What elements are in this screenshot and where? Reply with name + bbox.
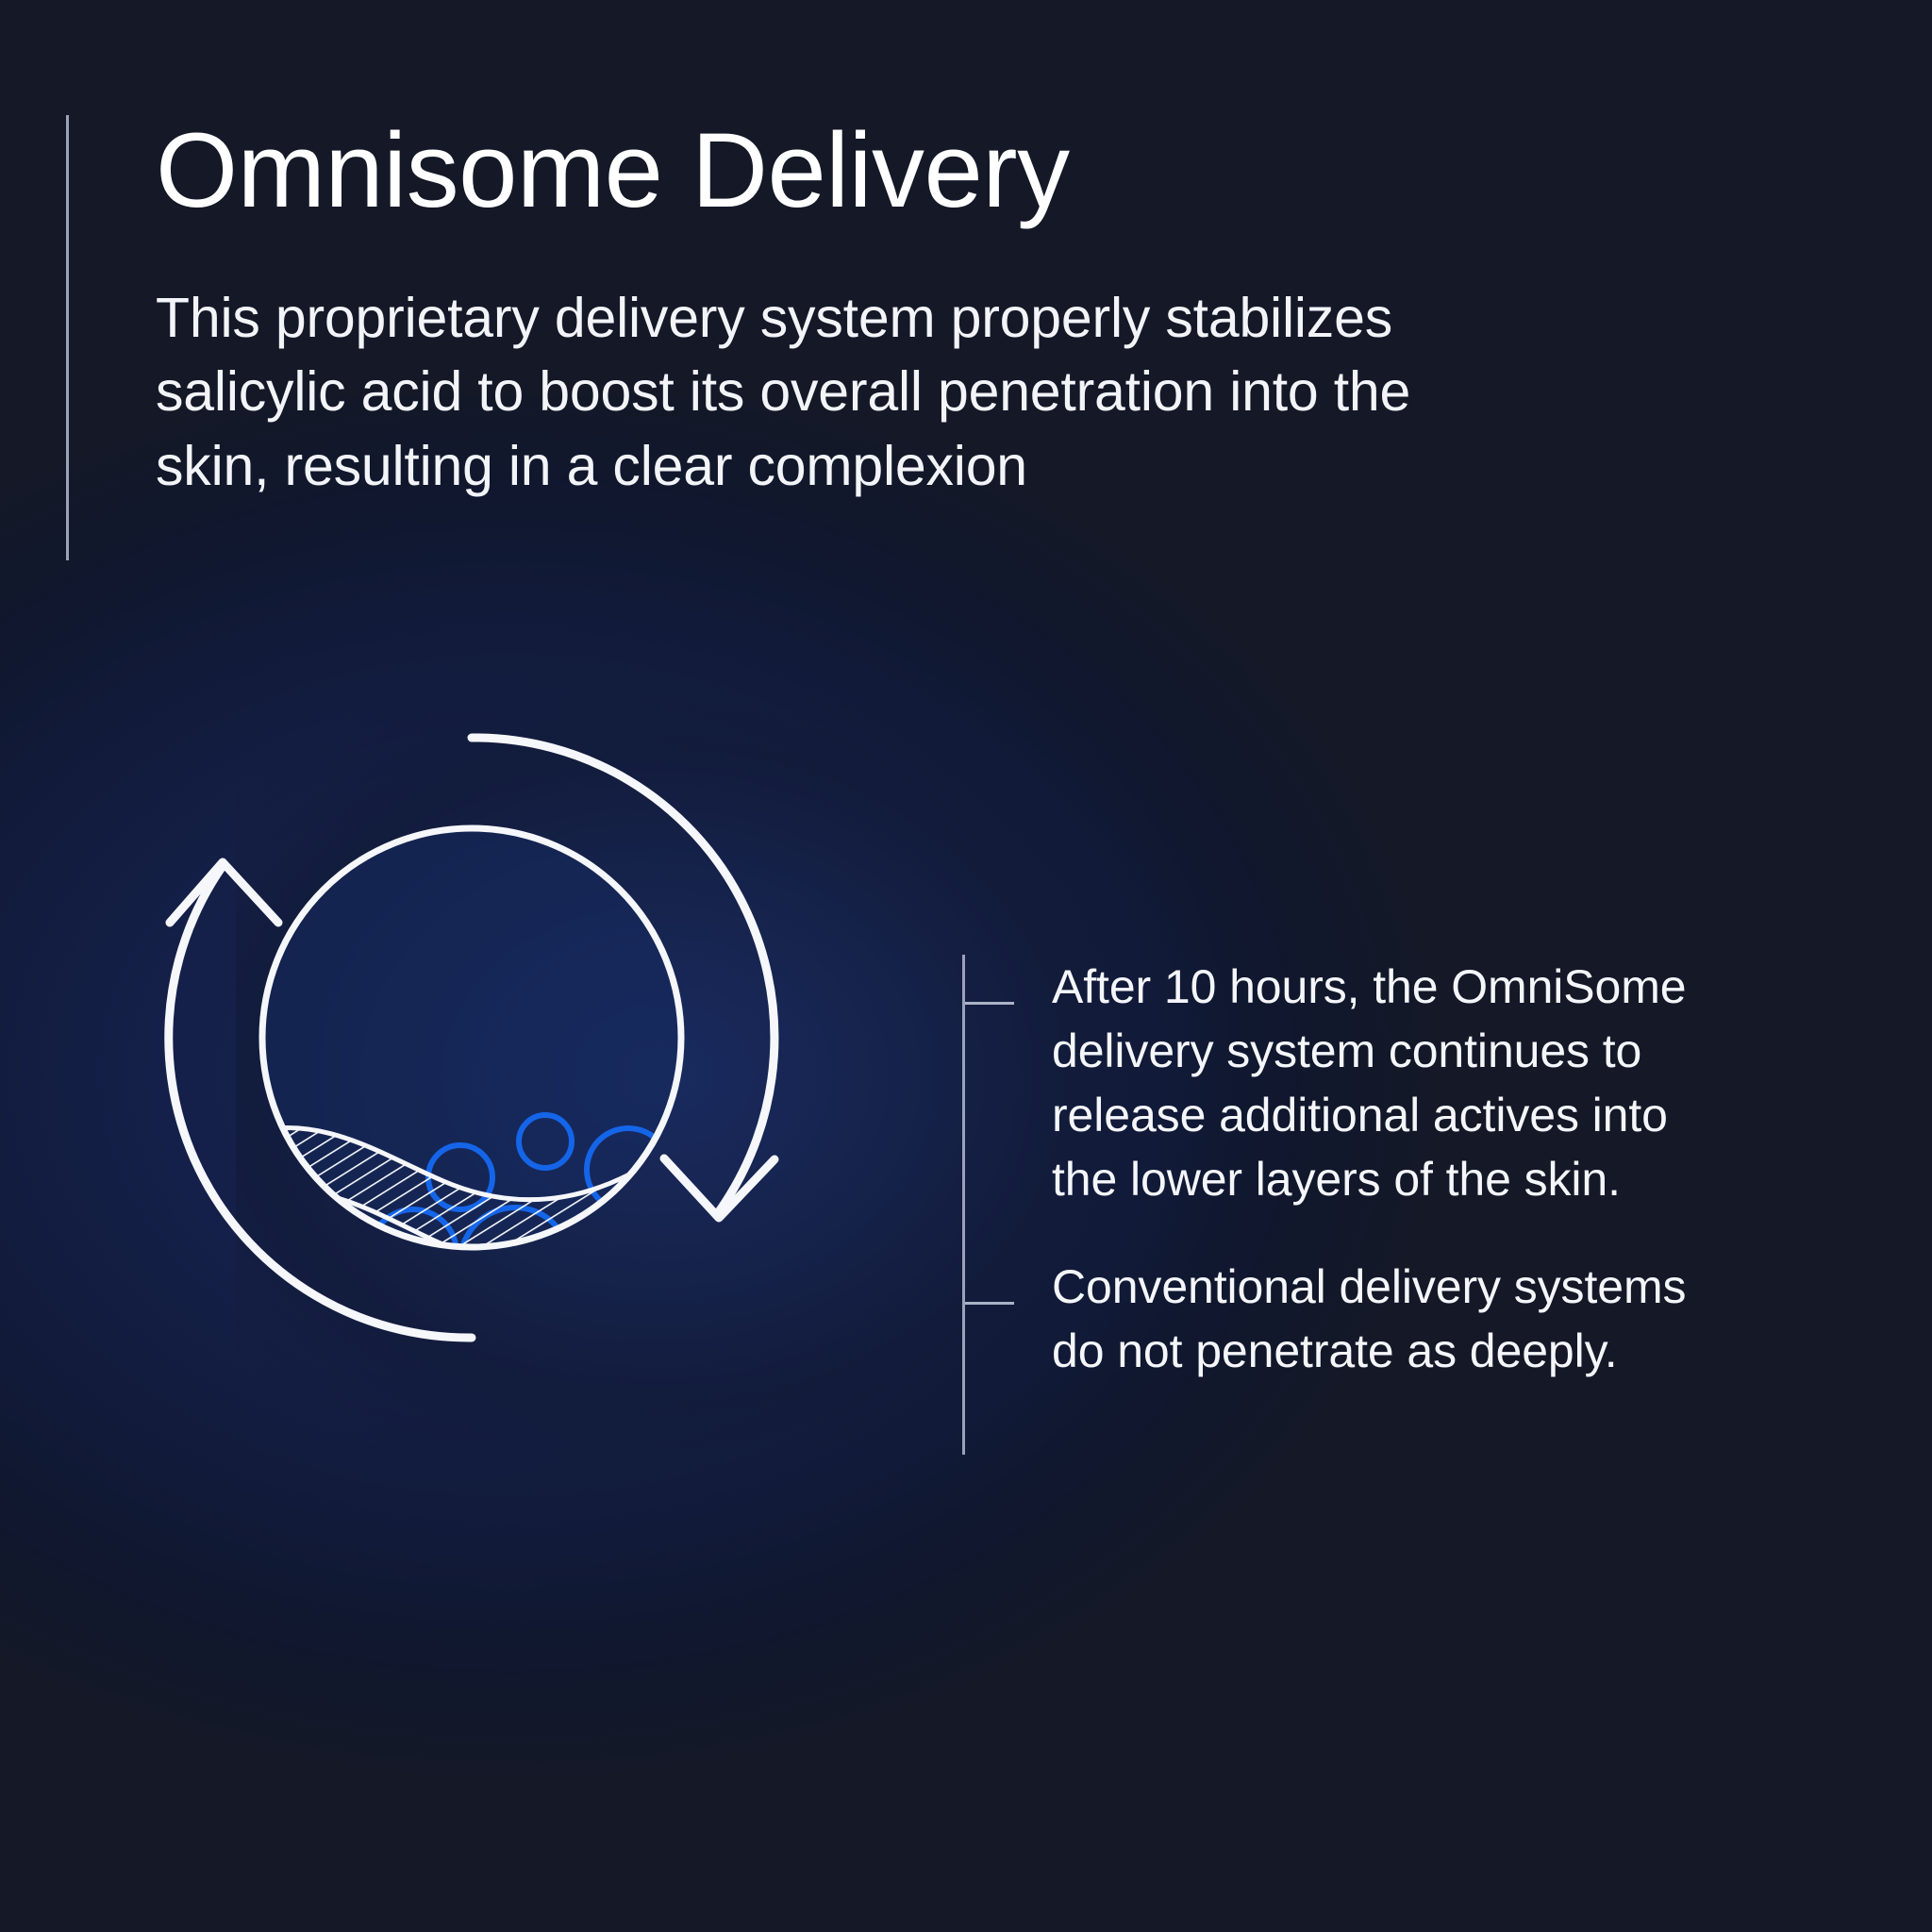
- note-tick-icon: [965, 1002, 1014, 1005]
- note-line: Conventional delivery systems: [1052, 1255, 1795, 1319]
- subtitle-line: This proprietary delivery system properl…: [156, 281, 1740, 355]
- bubble: [330, 1262, 368, 1300]
- slide-root: Omnisome Delivery This proprietary deliv…: [0, 0, 1932, 1932]
- note-line: do not penetrate as deeply.: [1052, 1319, 1795, 1383]
- bubble: [515, 1302, 609, 1377]
- note-item: Conventional delivery systems do not pen…: [965, 1255, 1795, 1383]
- note-text: Conventional delivery systems do not pen…: [965, 1255, 1795, 1383]
- subtitle-line: skin, resulting in a clear complexion: [156, 429, 1740, 503]
- note-tick-icon: [965, 1302, 1014, 1305]
- bubble: [634, 1324, 683, 1374]
- bubble: [605, 1245, 665, 1306]
- header-block: Omnisome Delivery This proprietary deliv…: [66, 115, 1840, 560]
- page-title: Omnisome Delivery: [156, 115, 1840, 226]
- page-subtitle: This proprietary delivery system properl…: [156, 281, 1740, 503]
- diagram-svg: [132, 698, 811, 1377]
- note-line: After 10 hours, the OmniSome: [1052, 955, 1795, 1019]
- note-line: release additional actives into: [1052, 1083, 1795, 1147]
- note-item: After 10 hours, the OmniSome delivery sy…: [965, 955, 1795, 1211]
- note-line: delivery system continues to: [1052, 1019, 1795, 1083]
- note-text: After 10 hours, the OmniSome delivery sy…: [965, 955, 1795, 1211]
- note-line: the lower layers of the skin.: [1052, 1147, 1795, 1211]
- subtitle-line: salicylic acid to boost its overall pene…: [156, 355, 1740, 428]
- omnisome-delivery-diagram: [132, 698, 811, 1377]
- notes-panel: After 10 hours, the OmniSome delivery sy…: [962, 955, 1792, 1455]
